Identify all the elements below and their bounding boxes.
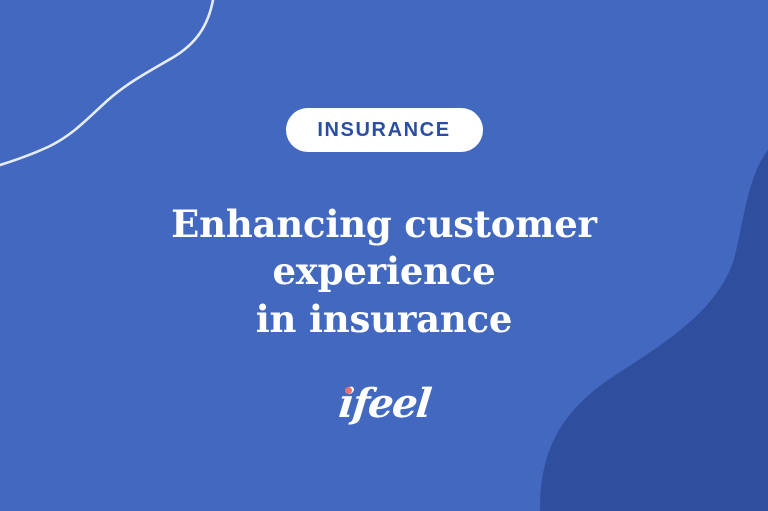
page-title: Enhancing customer experience in insuran… [74,201,694,343]
category-badge-label: INSURANCE [317,120,450,140]
ifeel-logo: ifeel [339,380,430,428]
page-title-line-2: in insurance [74,296,694,343]
category-badge: INSURANCE [286,108,483,152]
page-title-line-1: Enhancing customer experience [74,201,694,296]
insurance-banner: INSURANCE Enhancing customer experience … [0,0,768,511]
ifeel-logo-dot-icon [345,387,352,394]
banner-content: INSURANCE Enhancing customer experience … [0,0,768,511]
